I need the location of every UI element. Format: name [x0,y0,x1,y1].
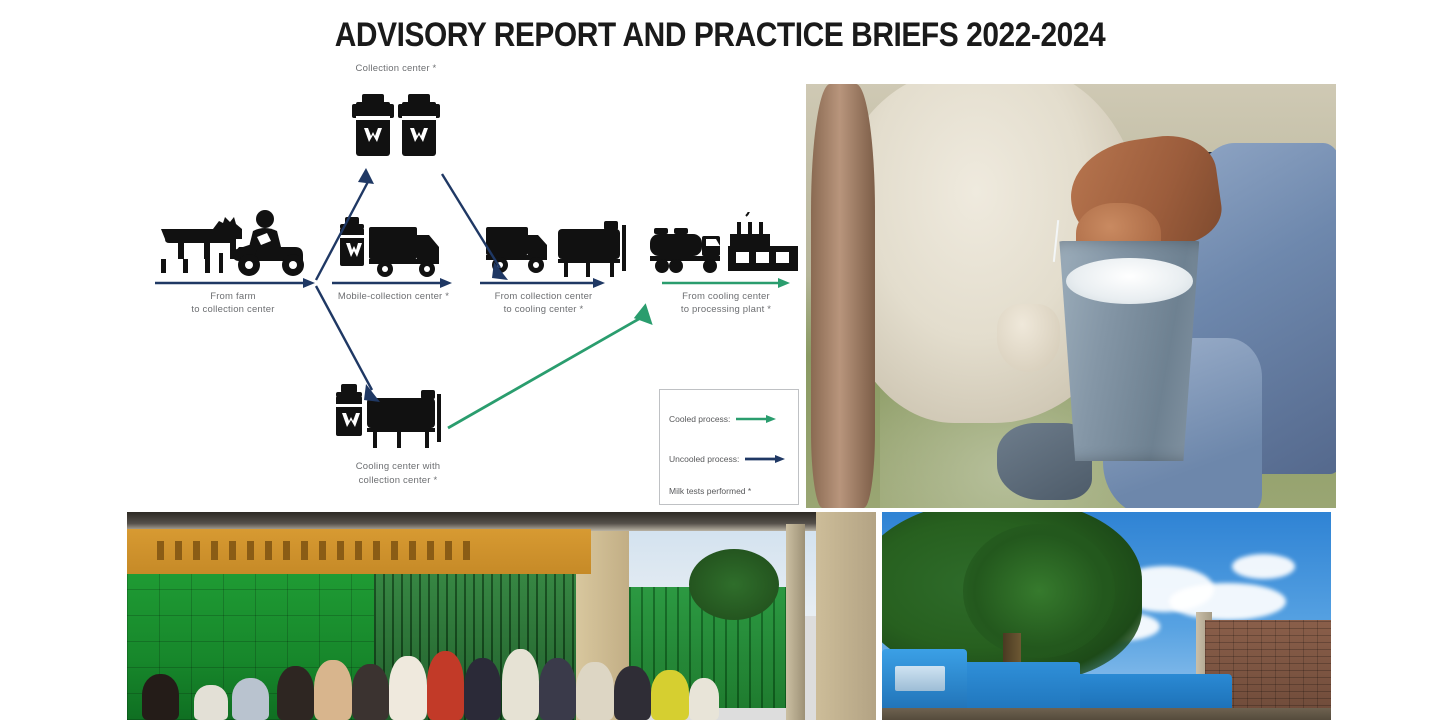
flow-label-cooling-to-plant-line1: From cooling center [656,290,796,303]
legend-row-cooled: Cooled process: [669,410,776,428]
collection-center-label: Collection center * [316,62,476,75]
cooled-arrow-icon [736,410,776,428]
flow-label-cooling-to-plant-line2: to processing plant * [656,303,796,316]
arrow-cooling-center-to-processing-plant [446,302,661,430]
flow-label-mobile-collection: Mobile-collection center * [321,290,466,303]
cooling-center-label-line2: collection center * [313,474,483,487]
arrow-collection-to-transport [440,164,520,282]
legend-label-milk-tests: Milk tests performed * [669,486,751,496]
flow-label-farm-to-collection-line1: From farm [158,290,308,303]
arrow-mobile-collection [332,278,452,288]
photo-milk-transport-truck [882,512,1331,720]
legend-row-milk-tests: Milk tests performed * [669,486,751,496]
arrow-cooling-to-plant [662,278,790,288]
slide-canvas: ADVISORY REPORT AND PRACTICE BRIEFS 2022… [0,0,1440,720]
arrow-farm-to-collection [155,278,315,288]
page-title: ADVISORY REPORT AND PRACTICE BRIEFS 2022… [86,16,1353,55]
milk-cans-icon [350,84,440,164]
photo-milk-collection-centre [127,512,876,720]
tanker-truck-and-factory-icon [650,212,798,284]
legend-label-uncooled: Uncooled process: [669,454,739,464]
flow-label-farm-to-collection-line2: to collection center [158,303,308,316]
photo-hand-milking-cow [806,84,1336,508]
arrow-collection-to-cooling [480,278,605,288]
cooling-center-label-line1: Cooling center with [313,460,483,473]
legend-label-cooled: Cooled process: [669,414,730,424]
process-legend: Cooled process: Uncooled process: Milk t… [659,389,799,505]
cow-and-atv-icon [153,207,308,279]
legend-row-uncooled: Uncooled process: [669,450,785,468]
arrow-hub-to-collection-center [314,164,384,282]
uncooled-arrow-icon [745,450,785,468]
